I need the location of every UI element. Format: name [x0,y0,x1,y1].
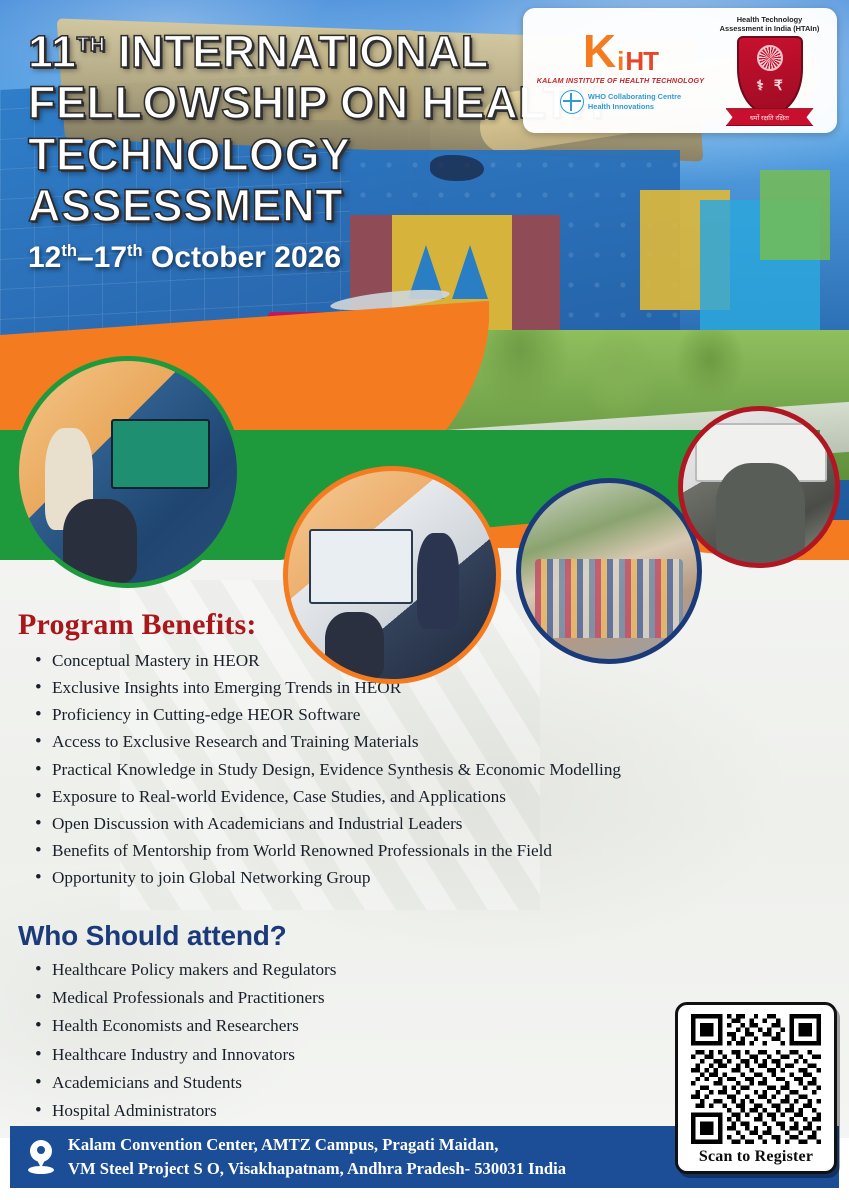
photo-presenter-with-screen [283,466,501,684]
who-logo-text: WHO Collaborating Centre Health Innovati… [588,92,681,111]
qr-code-icon[interactable] [687,1014,825,1144]
program-benefits-list: Conceptual Mastery in HEORExclusive Insi… [18,648,658,891]
who-should-attend-list: Healthcare Policy makers and RegulatorsM… [18,956,658,1124]
shield-symbols: ⚕ ₹ [756,77,783,94]
date-month-year: October 2026 [143,241,341,274]
poster-root: PIVOT 11th INTERNATIONAL FELLOWSHIP ON H… [0,0,849,1200]
title-line-3: TECHNOLOGY ASSESSMENT [28,129,608,232]
address-line-2: VM Steel Project S O, Visakhapatnam, And… [68,1157,566,1181]
kiht-wordmark: K i HT [583,28,658,74]
poster-title-block: 11th INTERNATIONAL FELLOWSHIP ON HEALTH … [28,26,608,275]
who-should-attend-section: Who Should attend? Healthcare Policy mak… [18,920,658,1125]
date-end-day: 17 [94,241,127,274]
benefit-list-item: Exclusive Insights into Emerging Trends … [52,675,658,701]
audience-list-item: Healthcare Policy makers and Regulators [52,956,658,983]
audience-list-item: Academicians and Students [52,1069,658,1096]
audience-list-item: Health Economists and Researchers [52,1012,658,1039]
photo-group-participants [516,478,702,664]
benefit-list-item: Access to Exclusive Research and Trainin… [52,729,658,755]
who-text-line-1: WHO Collaborating Centre [588,92,681,102]
htain-caption: Health Technology Assessment in India (H… [720,15,820,34]
kiht-letter-k: K [583,28,616,74]
benefit-list-item: Benefits of Mentorship from World Renown… [52,838,658,864]
htain-logo: Health Technology Assessment in India (H… [715,15,825,127]
benefit-list-item: Opportunity to join Global Networking Gr… [52,865,658,891]
address-line-1: Kalam Convention Center, AMTZ Campus, Pr… [68,1133,566,1157]
date-separator: – [77,241,94,274]
title-line-2: FELLOWSHIP ON HEALTH [28,77,608,128]
htain-caption-line-1: Health Technology [720,15,820,24]
venue-address-text: Kalam Convention Center, AMTZ Campus, Pr… [68,1133,566,1180]
date-start-suffix: th [61,242,77,260]
rupee-icon: ₹ [774,77,783,94]
kiht-logo: K i HT KALAM INSTITUTE OF HEALTH TECHNOL… [536,28,706,114]
kiht-tagline: KALAM INSTITUTE OF HEALTH TECHNOLOGY [537,76,705,85]
date-end-suffix: th [127,242,143,260]
benefit-list-item: Proficiency in Cutting-edge HEOR Softwar… [52,702,658,728]
kiht-letters-ht: HT [625,48,658,74]
date-start-day: 12 [28,241,61,274]
title-edition-number: 11 [28,26,77,77]
title-line-1: 11th INTERNATIONAL [28,26,489,77]
qr-register-card[interactable]: Scan to Register [675,1002,837,1174]
wall-panel-green [760,170,830,260]
page-title: 11th INTERNATIONAL FELLOWSHIP ON HEALTH … [28,26,608,231]
who-collaborating-centre-logo: WHO Collaborating Centre Health Innovati… [560,90,681,114]
caduceus-icon: ⚕ [756,77,764,94]
location-pin-icon [28,1140,54,1174]
htain-caption-line-2: Assessment in India (HTAIn) [720,24,820,33]
who-should-attend-heading: Who Should attend? [18,920,658,952]
audience-list-item: Hospital Administrators [52,1097,658,1124]
htain-shield-emblem: ⚕ ₹ [737,36,803,114]
logo-card: K i HT KALAM INSTITUTE OF HEALTH TECHNOL… [523,8,837,133]
kiht-letter-i: i [617,48,624,74]
title-line-1-rest: INTERNATIONAL [105,26,489,77]
event-date: 12th–17th October 2026 [28,241,608,275]
photo-lecturer-portrait [678,406,840,568]
group-people [535,559,683,638]
ashoka-chakra-icon [757,45,783,71]
audience-list-item: Medical Professionals and Practitioners [52,984,658,1011]
benefit-list-item: Practical Knowledge in Study Design, Evi… [52,757,658,783]
htain-motto-ribbon: धर्मो रक्षति रक्षितः [726,108,814,126]
title-ordinal-suffix: th [77,33,106,56]
qr-caption: Scan to Register [687,1148,825,1166]
who-text-line-2: Health Innovations [588,102,681,112]
photo-speaker-presenting [14,356,242,588]
audience-list-item: Healthcare Industry and Innovators [52,1041,658,1068]
benefit-list-item: Exposure to Real-world Evidence, Case St… [52,784,658,810]
who-emblem-icon [560,90,584,114]
benefit-list-item: Open Discussion with Academicians and In… [52,811,658,837]
